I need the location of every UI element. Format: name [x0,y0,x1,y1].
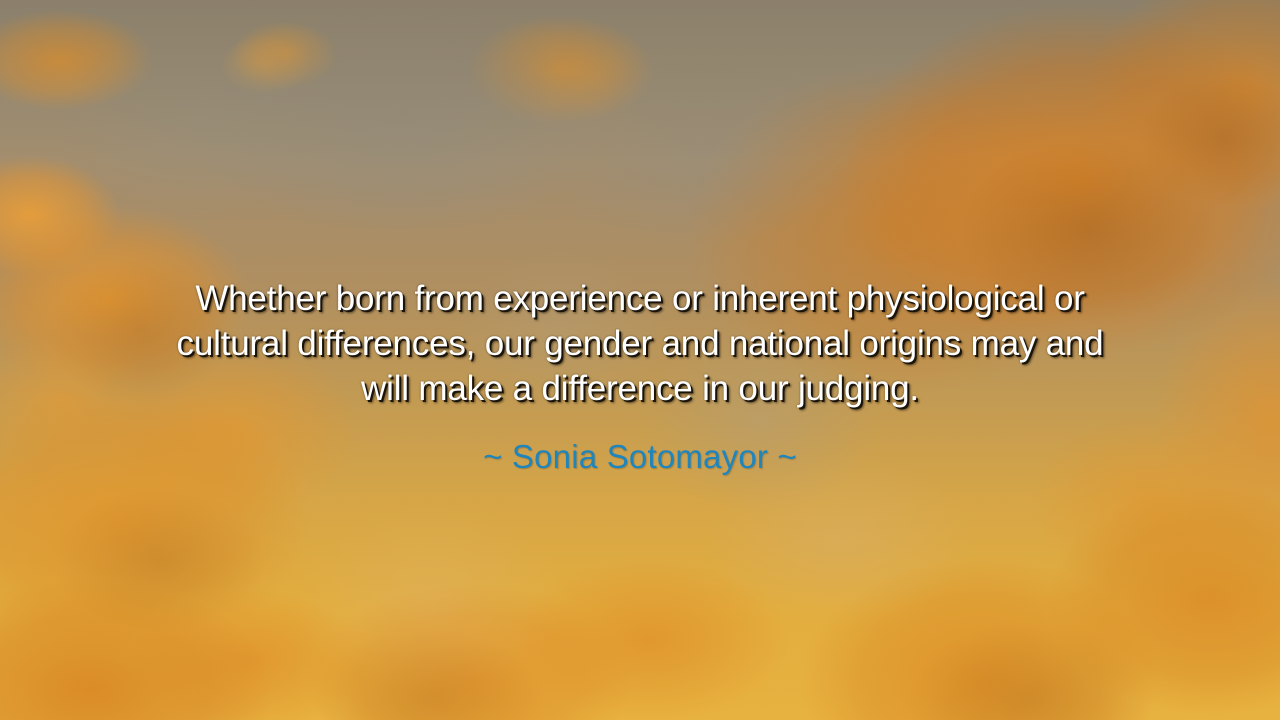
quote-image-canvas: Whether born from experience or inherent… [0,0,1280,720]
quote-block: Whether born from experience or inherent… [0,276,1280,411]
attribution-block: ~ Sonia Sotomayor ~ [0,437,1280,477]
quote-line-1: Whether born from experience or inherent… [70,276,1210,321]
quote-line-3: will make a difference in our judging. [70,366,1210,411]
attribution-author: ~ Sonia Sotomayor ~ [0,437,1280,477]
quote-line-2: cultural differences, our gender and nat… [70,321,1210,366]
